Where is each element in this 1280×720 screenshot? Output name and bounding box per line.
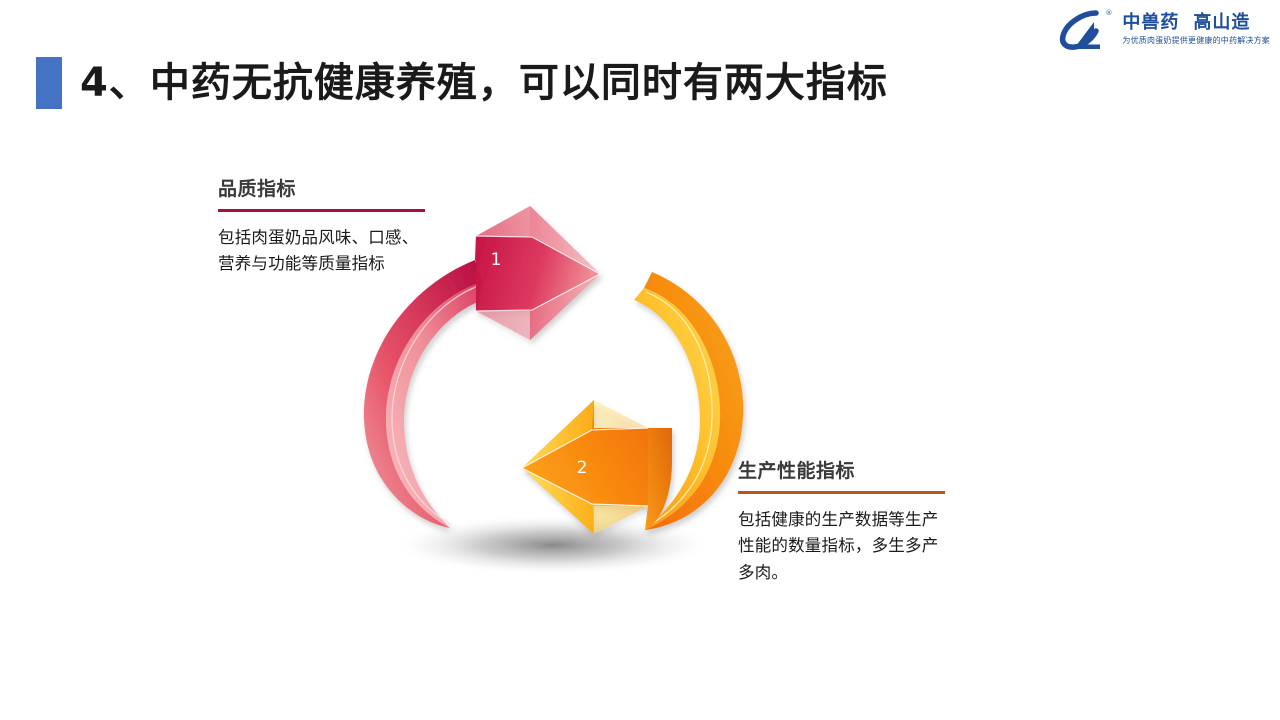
callout-performance-body: 包括健康的生产数据等生产性能的数量指标，多生多产多肉。 bbox=[738, 507, 953, 587]
mountain-stroke-logo-icon: ® bbox=[1052, 6, 1114, 52]
callout-quality: 品质指标 包括肉蛋奶品风味、口感、营养与功能等质量指标 bbox=[218, 178, 433, 278]
slide-title: 4、中药无抗健康养殖，可以同时有两大指标 bbox=[36, 57, 888, 109]
callout-quality-body: 包括肉蛋奶品风味、口感、营养与功能等质量指标 bbox=[218, 225, 433, 278]
callout-performance-heading: 生产性能指标 bbox=[738, 460, 953, 484]
title-bullet-square bbox=[36, 57, 62, 109]
cycle-arrow-2-number: 2 bbox=[577, 458, 588, 478]
registered-trademark-mark: ® bbox=[1105, 10, 1112, 17]
callout-quality-rule bbox=[218, 209, 425, 212]
page-title: 4、中药无抗健康养殖，可以同时有两大指标 bbox=[80, 63, 888, 103]
brand-text: 中兽药高山造 为优质肉蛋奶提供更健康的中药解决方案 bbox=[1122, 13, 1270, 45]
brand-tagline: 为优质肉蛋奶提供更健康的中药解决方案 bbox=[1122, 36, 1270, 46]
brand-title: 中兽药高山造 bbox=[1122, 13, 1250, 34]
brand-title-right: 高山造 bbox=[1193, 12, 1250, 33]
brand-title-left: 中兽药 bbox=[1122, 12, 1179, 33]
callout-performance: 生产性能指标 包括健康的生产数据等生产性能的数量指标，多生多产多肉。 bbox=[738, 460, 953, 587]
callout-quality-heading: 品质指标 bbox=[218, 178, 433, 202]
callout-performance-rule bbox=[738, 491, 945, 494]
brand-logo: ® 中兽药高山造 为优质肉蛋奶提供更健康的中药解决方案 bbox=[1052, 6, 1270, 52]
cycle-arrow-1-number: 1 bbox=[491, 250, 502, 270]
